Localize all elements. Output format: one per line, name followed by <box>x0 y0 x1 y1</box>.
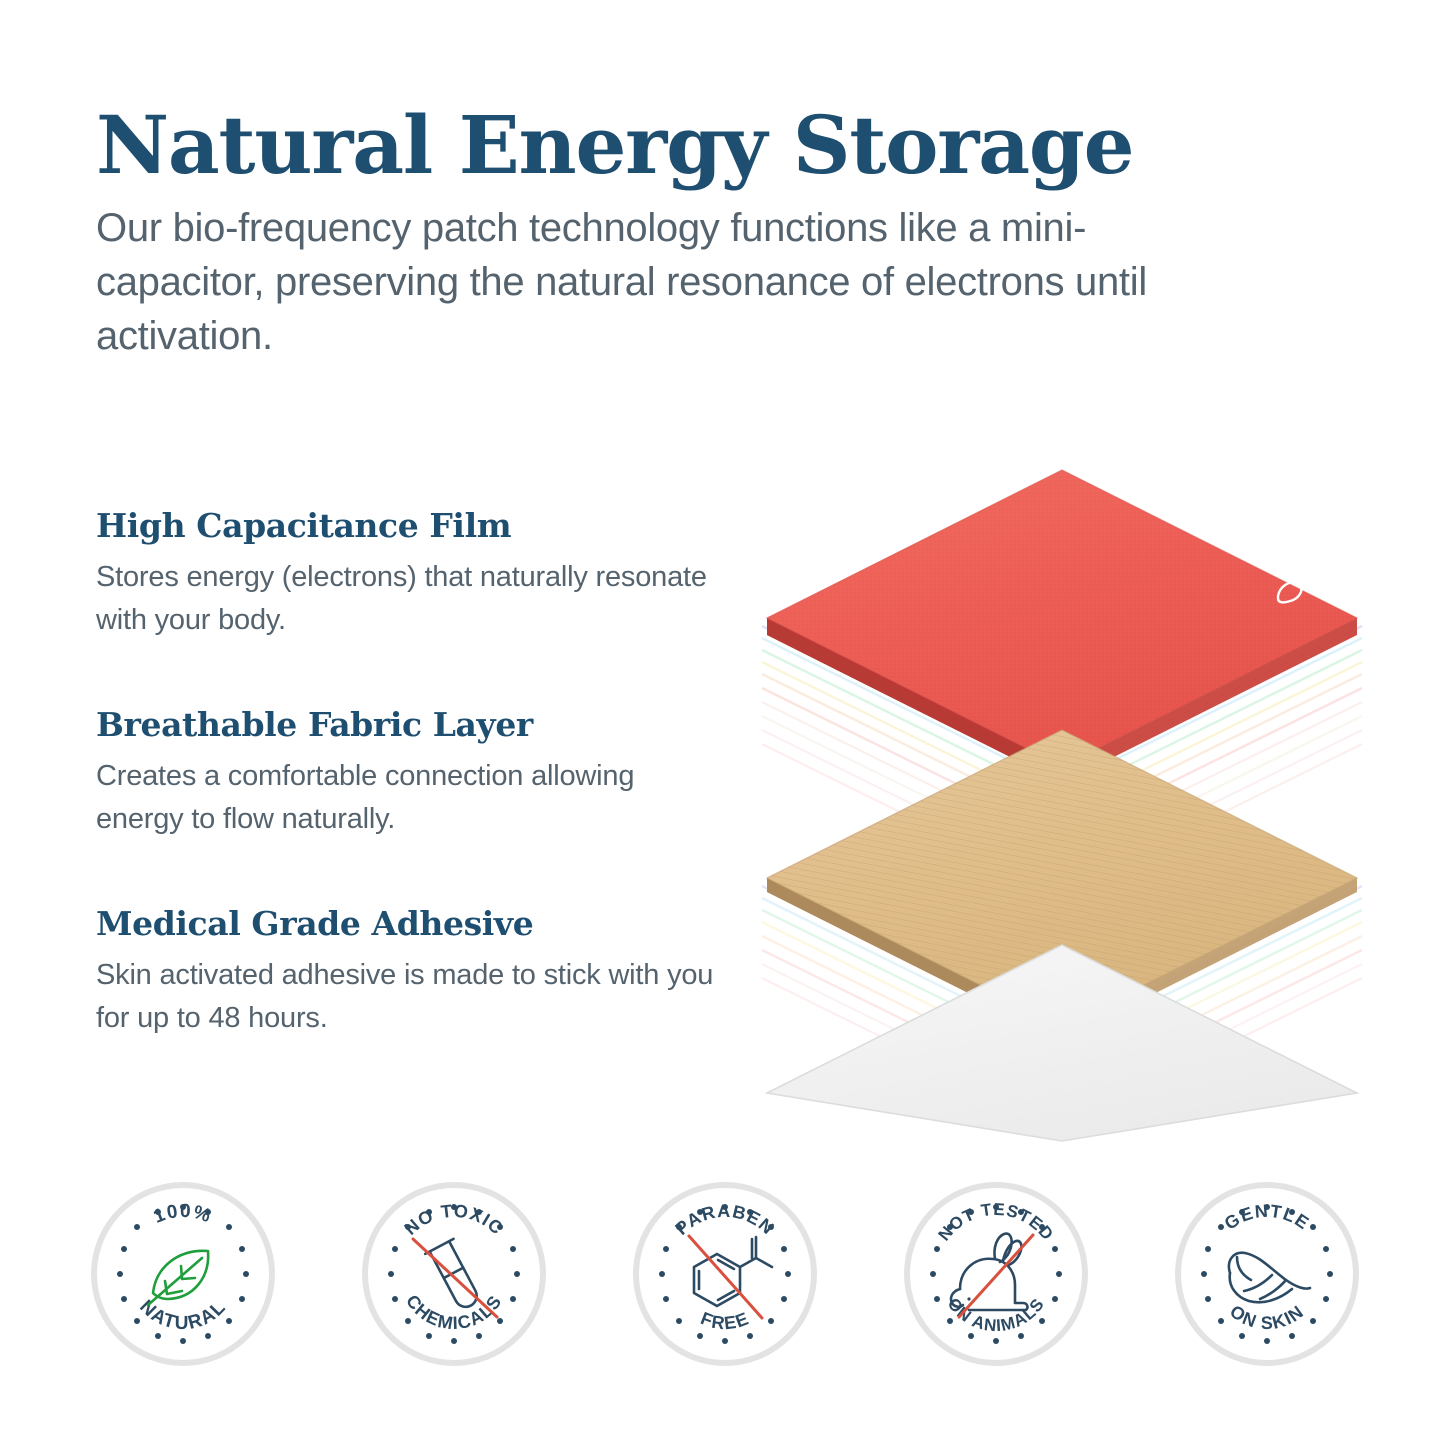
badge-not-tested-on-animals: NOT TESTED ON ANIMALS <box>903 1181 1089 1367</box>
badge-100-natural: 100% NATURAL <box>90 1181 276 1367</box>
feature-title: Breathable Fabric Layer <box>96 707 716 743</box>
feature-list: High Capacitance Film Stores energy (ele… <box>96 508 716 1039</box>
feature-description: Creates a comfortable connection allowin… <box>96 755 716 840</box>
feature-item-breathable-fabric-layer: Breathable Fabric Layer Creates a comfor… <box>96 707 716 840</box>
exploded-patch-illustration <box>712 430 1412 1150</box>
feature-description: Stores energy (electrons) that naturally… <box>96 556 716 641</box>
feature-item-medical-grade-adhesive: Medical Grade Adhesive Skin activated ad… <box>96 906 716 1039</box>
feature-item-high-capacitance-film: High Capacitance Film Stores energy (ele… <box>96 508 716 641</box>
feature-title: High Capacitance Film <box>96 508 716 544</box>
intro-paragraph: Our bio-frequency patch technology funct… <box>96 201 1236 363</box>
page-title: Natural Energy Storage <box>96 104 1276 187</box>
badge-no-toxic-chemicals: NO TOXIC CHEMICALS <box>361 1181 547 1367</box>
feature-title: Medical Grade Adhesive <box>96 906 716 942</box>
certification-badges: 100% NATURAL <box>90 1178 1360 1370</box>
badge-gentle-on-skin: GENTLE ON SKIN <box>1174 1181 1360 1367</box>
feature-description: Skin activated adhesive is made to stick… <box>96 954 716 1039</box>
layer-medical-grade-adhesive <box>767 945 1357 1141</box>
badge-paraben-free: PARABEN FREE <box>632 1181 818 1367</box>
page-header: Natural Energy Storage Our bio-frequency… <box>96 104 1276 363</box>
